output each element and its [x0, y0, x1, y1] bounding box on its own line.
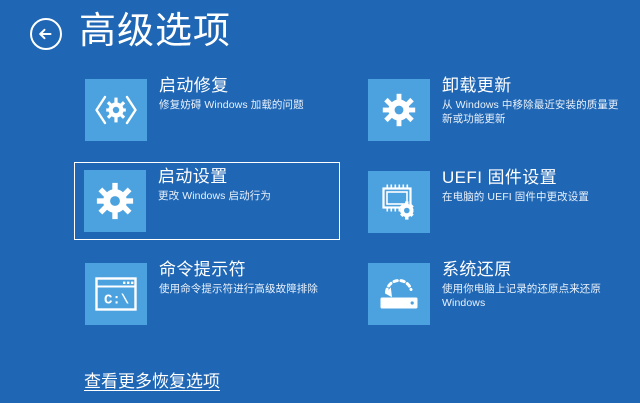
- option-description: 在电脑的 UEFI 固件中更改设置: [442, 191, 620, 205]
- option-system-restore[interactable]: 系统还原 使用你电脑上记录的还原点来还原 Windows: [357, 254, 623, 332]
- options-grid: 启动修复 修复妨碍 Windows 加载的问题: [0, 70, 640, 340]
- option-startup-settings[interactable]: 启动设置 更改 Windows 启动行为: [74, 162, 340, 240]
- option-text-block: 启动修复 修复妨碍 Windows 加载的问题: [159, 75, 337, 113]
- gear-in-angle-brackets-icon: [85, 79, 147, 141]
- option-text-block: 命令提示符 使用命令提示符进行高级故障排除: [159, 259, 337, 297]
- option-title: UEFI 固件设置: [442, 167, 620, 189]
- back-arrow-circle-icon[interactable]: [29, 17, 63, 51]
- option-description: 使用你电脑上记录的还原点来还原 Windows: [442, 283, 620, 310]
- option-startup-repair[interactable]: 启动修复 修复妨碍 Windows 加载的问题: [74, 70, 340, 148]
- advanced-options-screen: 高级选项: [0, 0, 640, 403]
- option-text-block: UEFI 固件设置 在电脑的 UEFI 固件中更改设置: [442, 167, 620, 205]
- option-description: 使用命令提示符进行高级故障排除: [159, 283, 337, 297]
- option-description: 修复妨碍 Windows 加载的问题: [159, 99, 337, 113]
- option-title: 系统还原: [442, 259, 620, 281]
- option-title: 启动修复: [159, 75, 337, 97]
- disk-restore-arrow-icon: [368, 263, 430, 325]
- more-recovery-options-link[interactable]: 查看更多恢复选项: [84, 370, 220, 394]
- option-text-block: 启动设置 更改 Windows 启动行为: [158, 166, 336, 204]
- option-title: 命令提示符: [159, 259, 337, 281]
- screen-header: 高级选项: [0, 0, 640, 64]
- option-uninstall-updates[interactable]: 卸载更新 从 Windows 中移除最近安装的质量更新或功能更新: [357, 70, 623, 148]
- console-window-icon: C:\: [85, 263, 147, 325]
- chip-with-gear-icon: [368, 171, 430, 233]
- option-command-prompt[interactable]: C:\ 命令提示符 使用命令提示符进行高级故障排除: [74, 254, 340, 332]
- option-description: 更改 Windows 启动行为: [158, 190, 336, 204]
- svg-text:C:\: C:\: [104, 293, 129, 309]
- option-uefi-firmware-settings[interactable]: UEFI 固件设置 在电脑的 UEFI 固件中更改设置: [357, 162, 623, 240]
- option-text-block: 系统还原 使用你电脑上记录的还原点来还原 Windows: [442, 259, 620, 310]
- gear-icon: [368, 79, 430, 141]
- page-title: 高级选项: [79, 6, 231, 56]
- option-description: 从 Windows 中移除最近安装的质量更新或功能更新: [442, 99, 620, 126]
- option-title: 启动设置: [158, 166, 336, 188]
- gear-icon: [84, 170, 146, 232]
- option-text-block: 卸载更新 从 Windows 中移除最近安装的质量更新或功能更新: [442, 75, 620, 126]
- option-title: 卸载更新: [442, 75, 620, 97]
